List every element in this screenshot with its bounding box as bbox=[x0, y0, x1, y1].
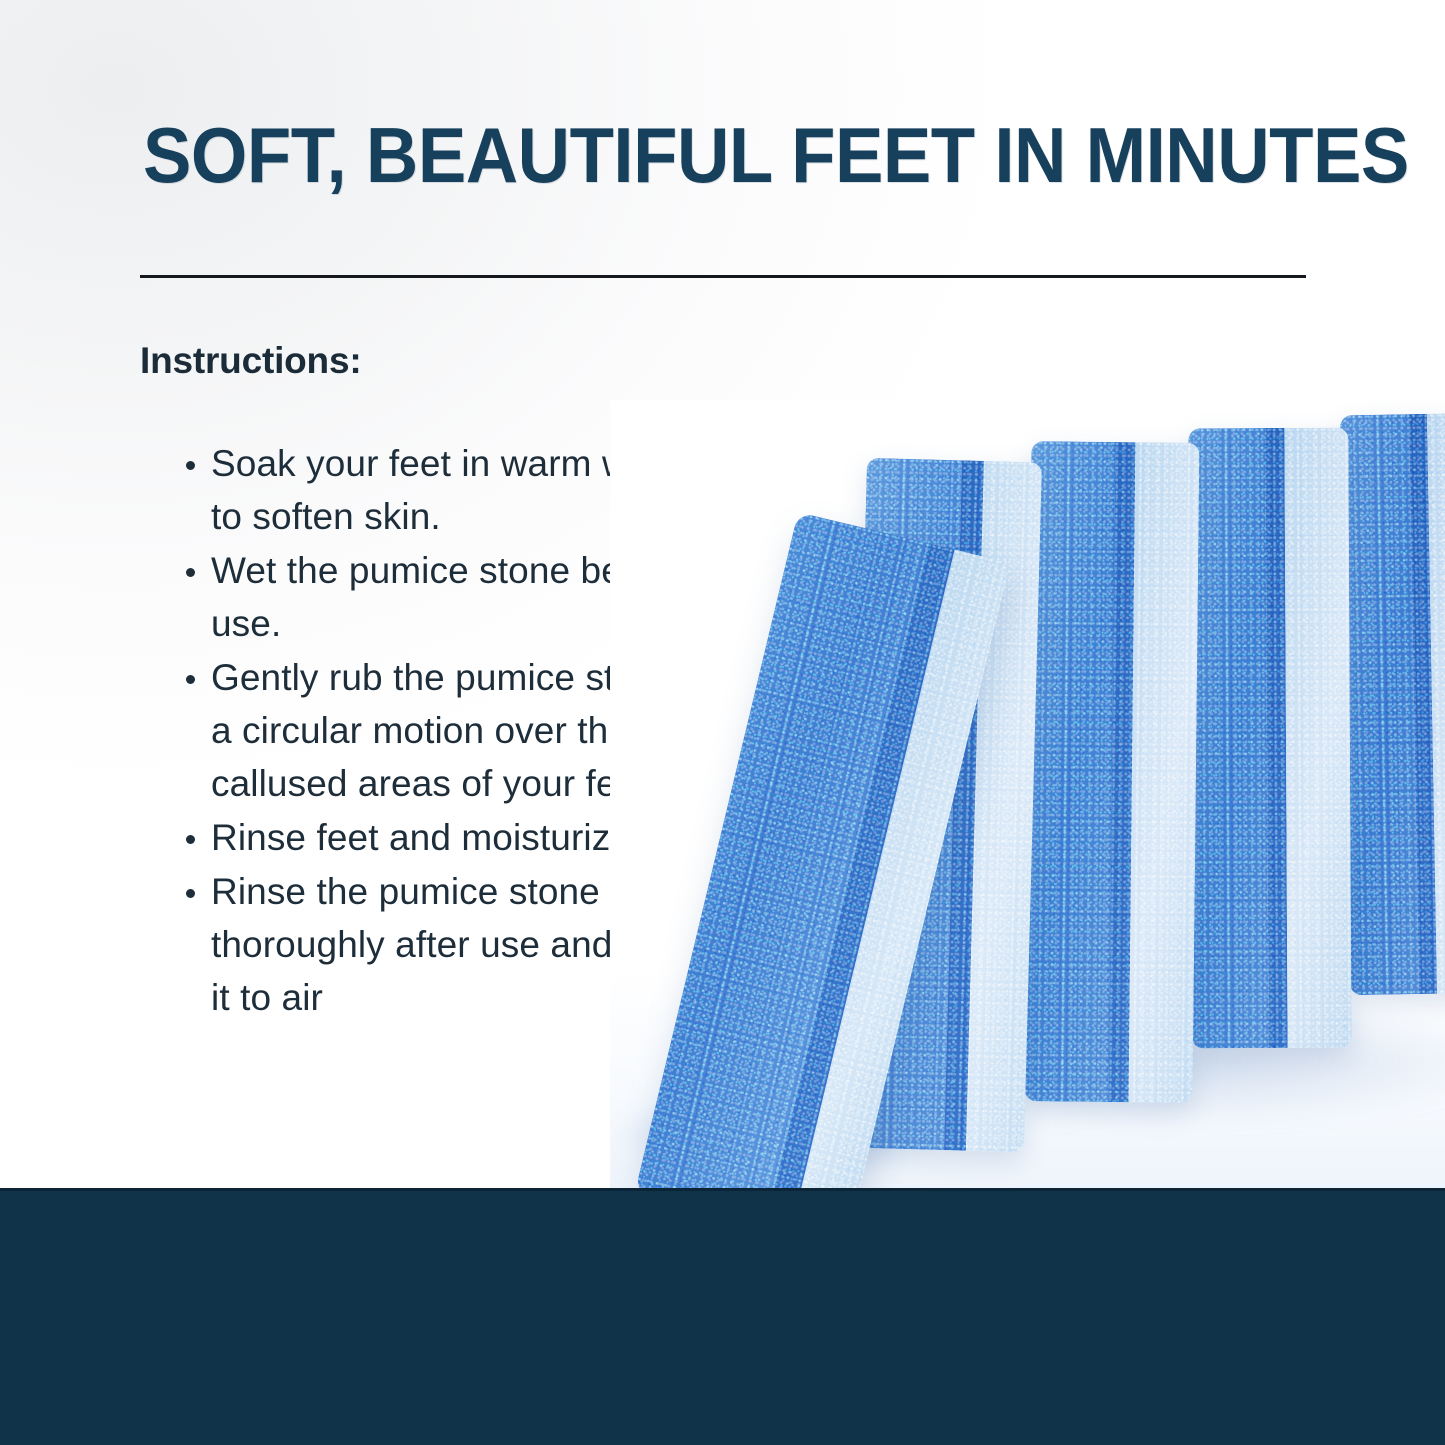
stone-texture-grit bbox=[1025, 441, 1200, 1103]
instructions-heading: Instructions: bbox=[140, 339, 361, 383]
stone-texture-grit bbox=[1340, 413, 1445, 996]
upright-stone-4 bbox=[1340, 413, 1445, 996]
footer-bar: DeEnti PROFESSIONAL COSMETICS bbox=[0, 1188, 1445, 1445]
upright-stone-2 bbox=[1025, 441, 1200, 1103]
infographic-page: SOFT, BEAUTIFUL FEET IN MINUTES Instruct… bbox=[0, 0, 1445, 1445]
stone-texture-grit bbox=[1188, 428, 1351, 1049]
header-divider bbox=[140, 275, 1306, 278]
upright-stone-3 bbox=[1188, 428, 1351, 1049]
page-title: SOFT, BEAUTIFUL FEET IN MINUTES bbox=[143, 109, 1259, 201]
product-photo bbox=[610, 400, 1445, 1190]
